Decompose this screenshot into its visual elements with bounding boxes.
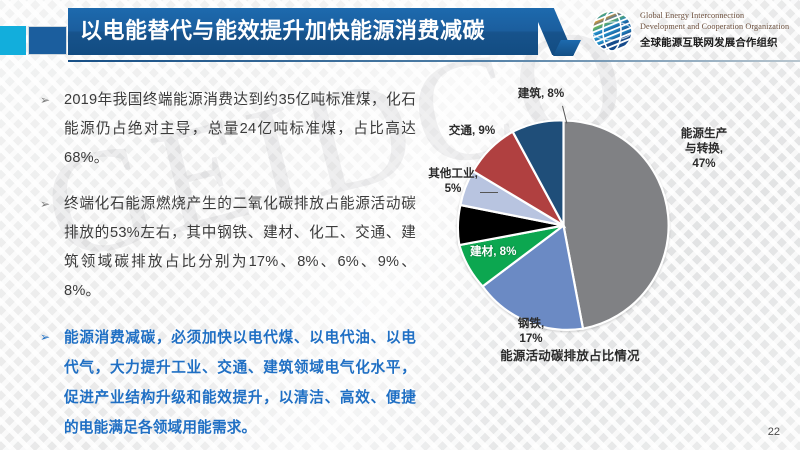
globe-logo-icon: [590, 9, 634, 53]
slide-header: 以电能替代与能效提升加快能源消费减碳: [0, 0, 800, 66]
header-divider: [68, 60, 800, 62]
chart-caption: 能源活动碳排放占比情况: [440, 346, 700, 364]
pie-label-transport: 交通, 9%: [429, 123, 515, 138]
bullet-marker-icon: ➢: [40, 86, 50, 115]
pie-label-other-industry-line1: 其他工业,: [411, 166, 495, 181]
page-number: 22: [768, 426, 780, 438]
bullet-text-3: 能源消费减碳，必须加快以电代煤、以电代油、以电代气，大力提升工业、交通、建筑领域…: [64, 330, 416, 436]
bullet-marker-icon: ➢: [40, 323, 50, 352]
pie-label-energy-production: 能源生产 与转换, 47%: [658, 126, 750, 171]
pie-slices: [456, 118, 671, 333]
bullet-item-3: ➢ 能源消费减碳，必须加快以电代煤、以电代油、以电代气，大力提升工业、交通、建筑…: [38, 323, 416, 443]
content-bullet-list: ➢ 2019年我国终端能源消费达到约35亿吨标准煤，化石能源仍占绝对主导，总量2…: [38, 86, 416, 450]
pie-chart-graphic: [456, 118, 671, 333]
pie-chart: 能源生产 与转换, 47% 建筑, 8% 交通, 9% 其他工业, 5% 建材,…: [415, 88, 795, 388]
pie-slice-energy-production: [564, 120, 669, 328]
pie-label-energy-line3: 47%: [658, 156, 750, 171]
header-accent-square-blue: [28, 26, 67, 55]
page-title: 以电能替代与能效提升加快能源消费减碳: [80, 13, 530, 49]
slide-canvas: GEIDCO 以电能替代与能效提升加快能源消费减碳: [0, 0, 800, 450]
bullet-item-2: ➢ 终端化石能源燃烧产生的二氧化碳排放占能源活动碳排放的53%左右，其中钢铁、建…: [38, 190, 416, 306]
bullet-text-1: 2019年我国终端能源消费达到约35亿吨标准煤，化石能源仍占绝对主导，总量24亿…: [64, 92, 416, 166]
pie-label-energy-line2: 与转换,: [658, 141, 750, 156]
organization-logo: Global Energy Interconnection Developmen…: [590, 6, 795, 58]
pie-label-steel-line1: 钢铁,: [491, 316, 571, 331]
logo-cn-name: 全球能源互联网发展合作组织: [640, 34, 795, 49]
bullet-text-2: 终端化石能源燃烧产生的二氧化碳排放占能源活动碳排放的53%左右，其中钢铁、建材、…: [64, 196, 416, 299]
pie-label-other-industry-line2: 5%: [411, 181, 495, 196]
pie-label-building-material: 建材, 8%: [470, 244, 516, 259]
pie-label-other-industry: 其他工业, 5%: [411, 166, 495, 196]
header-accent-square-cyan: [0, 26, 26, 55]
bullet-item-1: ➢ 2019年我国终端能源消费达到约35亿吨标准煤，化石能源仍占绝对主导，总量2…: [38, 86, 416, 173]
logo-en-line1: Global Energy Interconnection: [640, 10, 795, 21]
pie-label-steel-line2: 17%: [491, 331, 571, 346]
logo-wordmark: Global Energy Interconnection Developmen…: [640, 10, 795, 49]
pie-label-energy-line1: 能源生产: [658, 126, 750, 141]
bullet-marker-icon: ➢: [40, 190, 50, 219]
pie-label-steel: 钢铁, 17%: [491, 316, 571, 346]
pie-label-building: 建筑, 8%: [495, 86, 587, 101]
logo-en-line2: Development and Cooperation Organization: [640, 21, 795, 32]
